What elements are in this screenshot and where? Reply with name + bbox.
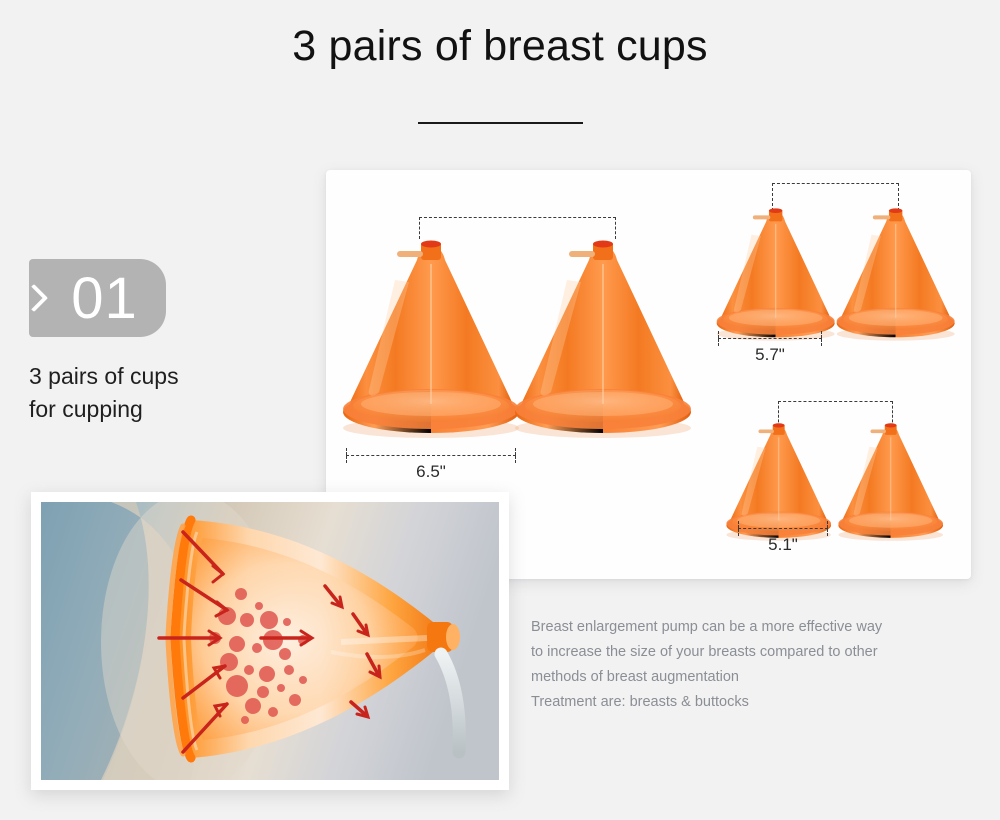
step-badge-number: 01 — [29, 259, 166, 337]
description-line: Breast enlargement pump can be a more ef… — [531, 615, 951, 640]
bracket-leg-left — [772, 183, 773, 211]
dimension-line — [738, 528, 828, 529]
cup-shape-icon — [834, 208, 958, 342]
description-line: methods of breast augmentation — [531, 665, 951, 690]
dimension-tick-right — [821, 331, 822, 346]
cup-small-left — [724, 423, 834, 542]
application-illustration — [41, 502, 499, 780]
bracket-leg-left — [419, 217, 420, 239]
bracket-line — [419, 217, 616, 218]
dimension-medium: 5.7" — [718, 338, 822, 368]
cup-small-right — [836, 423, 946, 542]
bracket-line — [772, 183, 899, 184]
bracket-line — [778, 401, 893, 402]
bracket-leg-right — [615, 217, 616, 239]
step-badge: 01 — [29, 259, 166, 337]
cup-shape-icon — [339, 240, 524, 440]
dimension-line — [718, 338, 822, 339]
dimension-tick-left — [738, 521, 739, 536]
dimension-tick-left — [718, 331, 719, 346]
cup-medium-right — [834, 208, 958, 342]
dimension-tick-right — [515, 448, 516, 463]
application-illustration-frame — [31, 492, 509, 790]
dimension-label: 5.1" — [738, 535, 828, 555]
cup-shape-icon — [836, 423, 946, 542]
description-text: Breast enlargement pump can be a more ef… — [531, 615, 951, 715]
cup-shape-icon — [724, 423, 834, 542]
description-line: to increase the size of your breasts com… — [531, 640, 951, 665]
dimension-tick-right — [827, 521, 828, 536]
dimension-large: 6.5" — [346, 455, 516, 485]
cup-shape-icon — [511, 240, 696, 440]
page-title: 3 pairs of breast cups — [0, 22, 1000, 71]
dimension-line — [346, 455, 516, 456]
description-line: Treatment are: breasts & buttocks — [531, 690, 951, 715]
cupping-diagram-icon — [41, 502, 499, 780]
title-divider — [418, 122, 583, 124]
cup-medium-left — [714, 208, 838, 342]
dimension-small: 5.1" — [738, 528, 828, 558]
dimension-label: 6.5" — [346, 462, 516, 482]
bracket-leg-right — [898, 183, 899, 211]
cup-large-right — [511, 240, 696, 440]
cup-shape-icon — [714, 208, 838, 342]
feature-caption: 3 pairs of cups for cupping — [29, 360, 309, 425]
dimension-label: 5.7" — [718, 345, 822, 365]
dimension-tick-left — [346, 448, 347, 463]
cup-large-left — [339, 240, 524, 440]
